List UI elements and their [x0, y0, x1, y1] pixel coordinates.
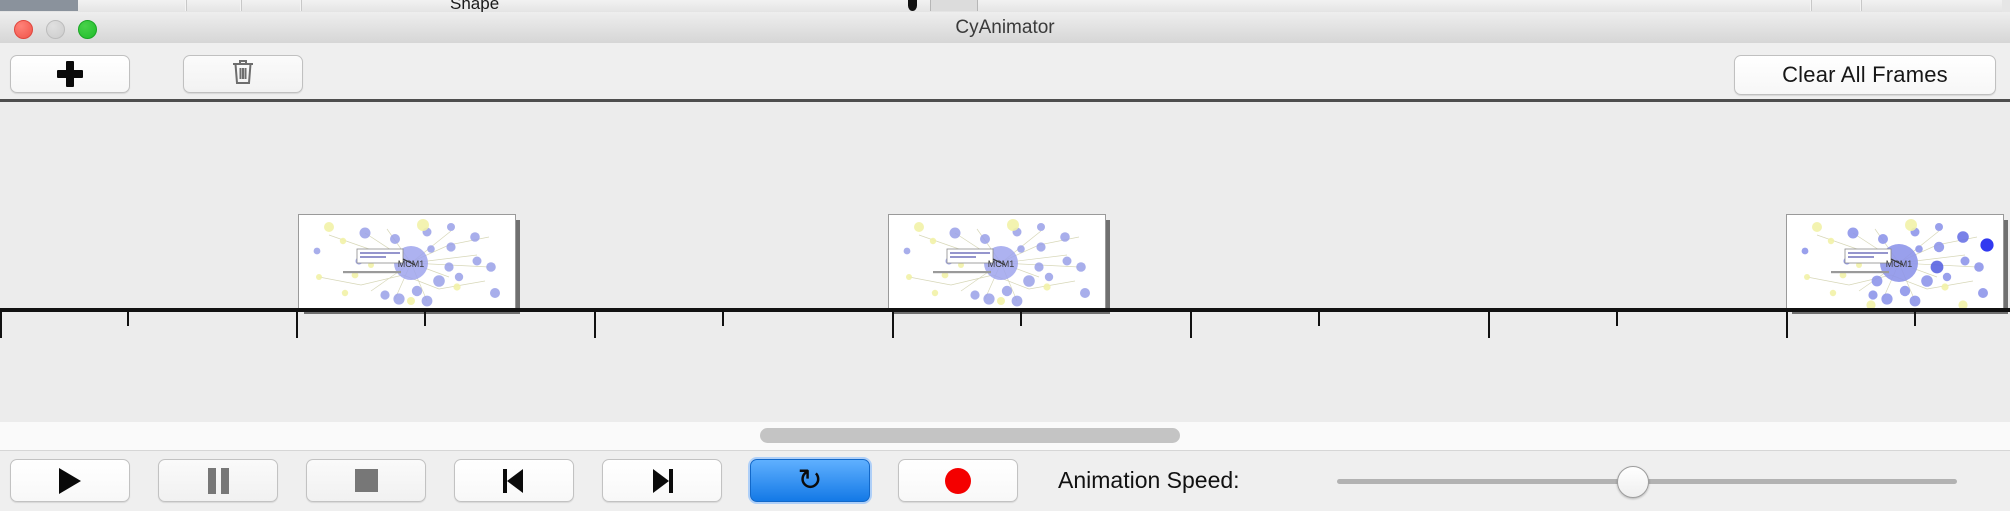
- clear-all-frames-button[interactable]: Clear All Frames: [1734, 55, 1996, 95]
- background-vertical-scrollbar[interactable]: [2002, 0, 2010, 12]
- stop-icon: [355, 469, 378, 492]
- timeline-canvas[interactable]: MCM1: [0, 102, 2010, 425]
- delete-frame-button[interactable]: [183, 55, 303, 93]
- window-title: CyAnimator: [0, 12, 2010, 43]
- add-frame-button[interactable]: [10, 55, 130, 93]
- stop-button[interactable]: [306, 459, 426, 502]
- trash-icon: [230, 58, 256, 91]
- ruler-tick-major: [1488, 312, 1490, 338]
- ruler-tick-minor: [1020, 312, 1022, 326]
- maximize-window-button[interactable]: [78, 20, 97, 39]
- loop-icon: ↻: [797, 466, 822, 496]
- timeline-ruler: [0, 308, 2010, 312]
- skip-end-icon: [649, 468, 675, 494]
- timeline-panel: MCM1: [0, 99, 2010, 425]
- skip-start-icon: [501, 468, 527, 494]
- ruler-tick-minor: [127, 312, 129, 326]
- clear-all-frames-label: Clear All Frames: [1782, 62, 1948, 88]
- scrollbar-thumb[interactable]: [760, 428, 1180, 443]
- frame-thumbnail[interactable]: MCM1: [1786, 214, 2004, 310]
- pause-button[interactable]: [158, 459, 278, 502]
- timeline-horizontal-scrollbar[interactable]: [0, 422, 2010, 451]
- animation-speed-slider[interactable]: [1337, 479, 1957, 484]
- animation-speed-label: Animation Speed:: [1058, 459, 1240, 502]
- pause-icon: [206, 468, 230, 494]
- thumbnail-node-label: MCM1: [1886, 259, 1913, 269]
- ruler-tick-minor: [1914, 312, 1916, 326]
- skip-to-start-button[interactable]: [454, 459, 574, 502]
- close-window-button[interactable]: [14, 20, 33, 39]
- ruler-tick-minor: [722, 312, 724, 326]
- skip-to-end-button[interactable]: [602, 459, 722, 502]
- animation-speed-slider-knob[interactable]: [1617, 466, 1649, 498]
- background-sidebar-sliver: [0, 0, 78, 11]
- ruler-tick-minor: [1616, 312, 1618, 326]
- plus-icon: [57, 61, 83, 87]
- ruler-tick-minor: [424, 312, 426, 326]
- minimize-window-button[interactable]: [46, 20, 65, 39]
- thumbnail-node-label: MCM1: [988, 259, 1015, 269]
- cyanimator-window: Shape CyAnimator Clear All Frames: [0, 0, 2010, 510]
- ruler-tick-major: [1786, 312, 1788, 338]
- background-cursor-blob: [908, 0, 917, 11]
- ruler-tick-minor: [1318, 312, 1320, 326]
- traffic-light-group: [14, 20, 124, 37]
- thumbnail-node-label: MCM1: [398, 259, 425, 269]
- play-icon: [59, 468, 81, 494]
- loop-button[interactable]: ↻: [750, 459, 870, 502]
- frame-thumbnail[interactable]: MCM1: [298, 214, 516, 310]
- playback-control-bar: ↻ Animation Speed:: [0, 450, 2010, 511]
- play-button[interactable]: [10, 459, 130, 502]
- background-window-strip: Shape: [0, 0, 2010, 12]
- frame-thumbnail[interactable]: MCM1: [888, 214, 1106, 310]
- ruler-tick-major: [892, 312, 894, 338]
- background-tab: [930, 0, 978, 11]
- ruler-tick-major: [594, 312, 596, 338]
- record-icon: [945, 468, 971, 494]
- ruler-tick-major: [1190, 312, 1192, 338]
- title-bar: CyAnimator: [0, 12, 2010, 44]
- ruler-tick-major: [296, 312, 298, 338]
- ruler-tick-major: [0, 312, 2, 338]
- background-window-label: Shape: [450, 0, 499, 12]
- record-button[interactable]: [898, 459, 1018, 502]
